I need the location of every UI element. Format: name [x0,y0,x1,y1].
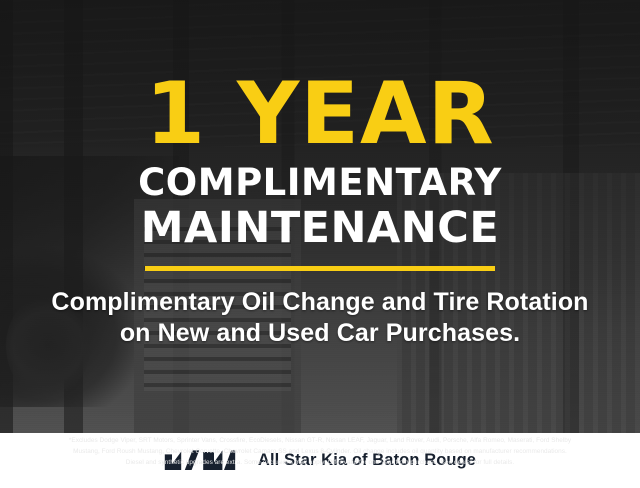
tagline: Complimentary Oil Change and Tire Rotati… [51,287,588,350]
headline-complimentary: COMPLIMENTARY [138,164,502,201]
disclaimer-text: *Excludes Dodge Viper, SRT Motors, Sprin… [0,435,640,468]
disclaimer-line-3: Diesel and synthetic upgrades are extra.… [12,457,628,468]
disclaimer-line-2: Mustang, Ford Roush Mustang, Chevrolet C… [12,446,628,457]
headline-year: 1 YEAR [145,78,495,152]
disclaimer-line-1: *Excludes Dodge Viper, SRT Motors, Sprin… [12,435,628,446]
tagline-line-2: on New and Used Car Purchases. [51,318,588,350]
promo-banner: 1 YEAR COMPLIMENTARY MAINTENANCE Complim… [0,0,640,488]
hero-copy: 1 YEAR COMPLIMENTARY MAINTENANCE Complim… [0,0,640,488]
yellow-divider-rule [145,266,495,271]
tagline-line-1: Complimentary Oil Change and Tire Rotati… [51,287,588,319]
headline-maintenance: MAINTENANCE [141,207,499,250]
